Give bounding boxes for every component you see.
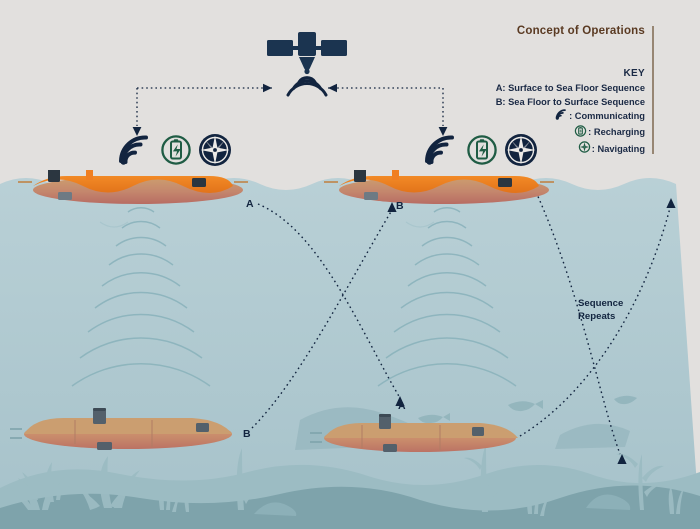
wifi-signal-icon [424,135,460,170]
sequence-repeats-annotation: Sequence Repeats [578,298,664,323]
label-b-surface: B [396,200,404,212]
compass-rose-icon [504,133,538,172]
surface-vessel-right-icons [424,133,538,172]
surface-vessel-left-icons [118,133,232,172]
arrow-to-satellite-right [328,84,337,92]
battery-recycle-icon [466,134,498,171]
label-a-surface: A [246,198,254,210]
concept-of-operations-infographic: Concept of Operations KEY A: Surface to … [0,0,700,529]
sequence-repeats-line1: Sequence [578,298,664,311]
battery-recycle-icon [160,134,192,171]
label-b-seafloor: B [243,428,251,440]
wifi-signal-icon [118,135,154,170]
ocean-scene [0,170,700,529]
arrow-to-satellite-left [263,84,272,92]
satellite-link-lines [0,0,700,186]
compass-rose-icon [198,133,232,172]
label-a-seafloor: A [398,400,406,412]
sequence-repeats-line2: Repeats [578,311,664,324]
